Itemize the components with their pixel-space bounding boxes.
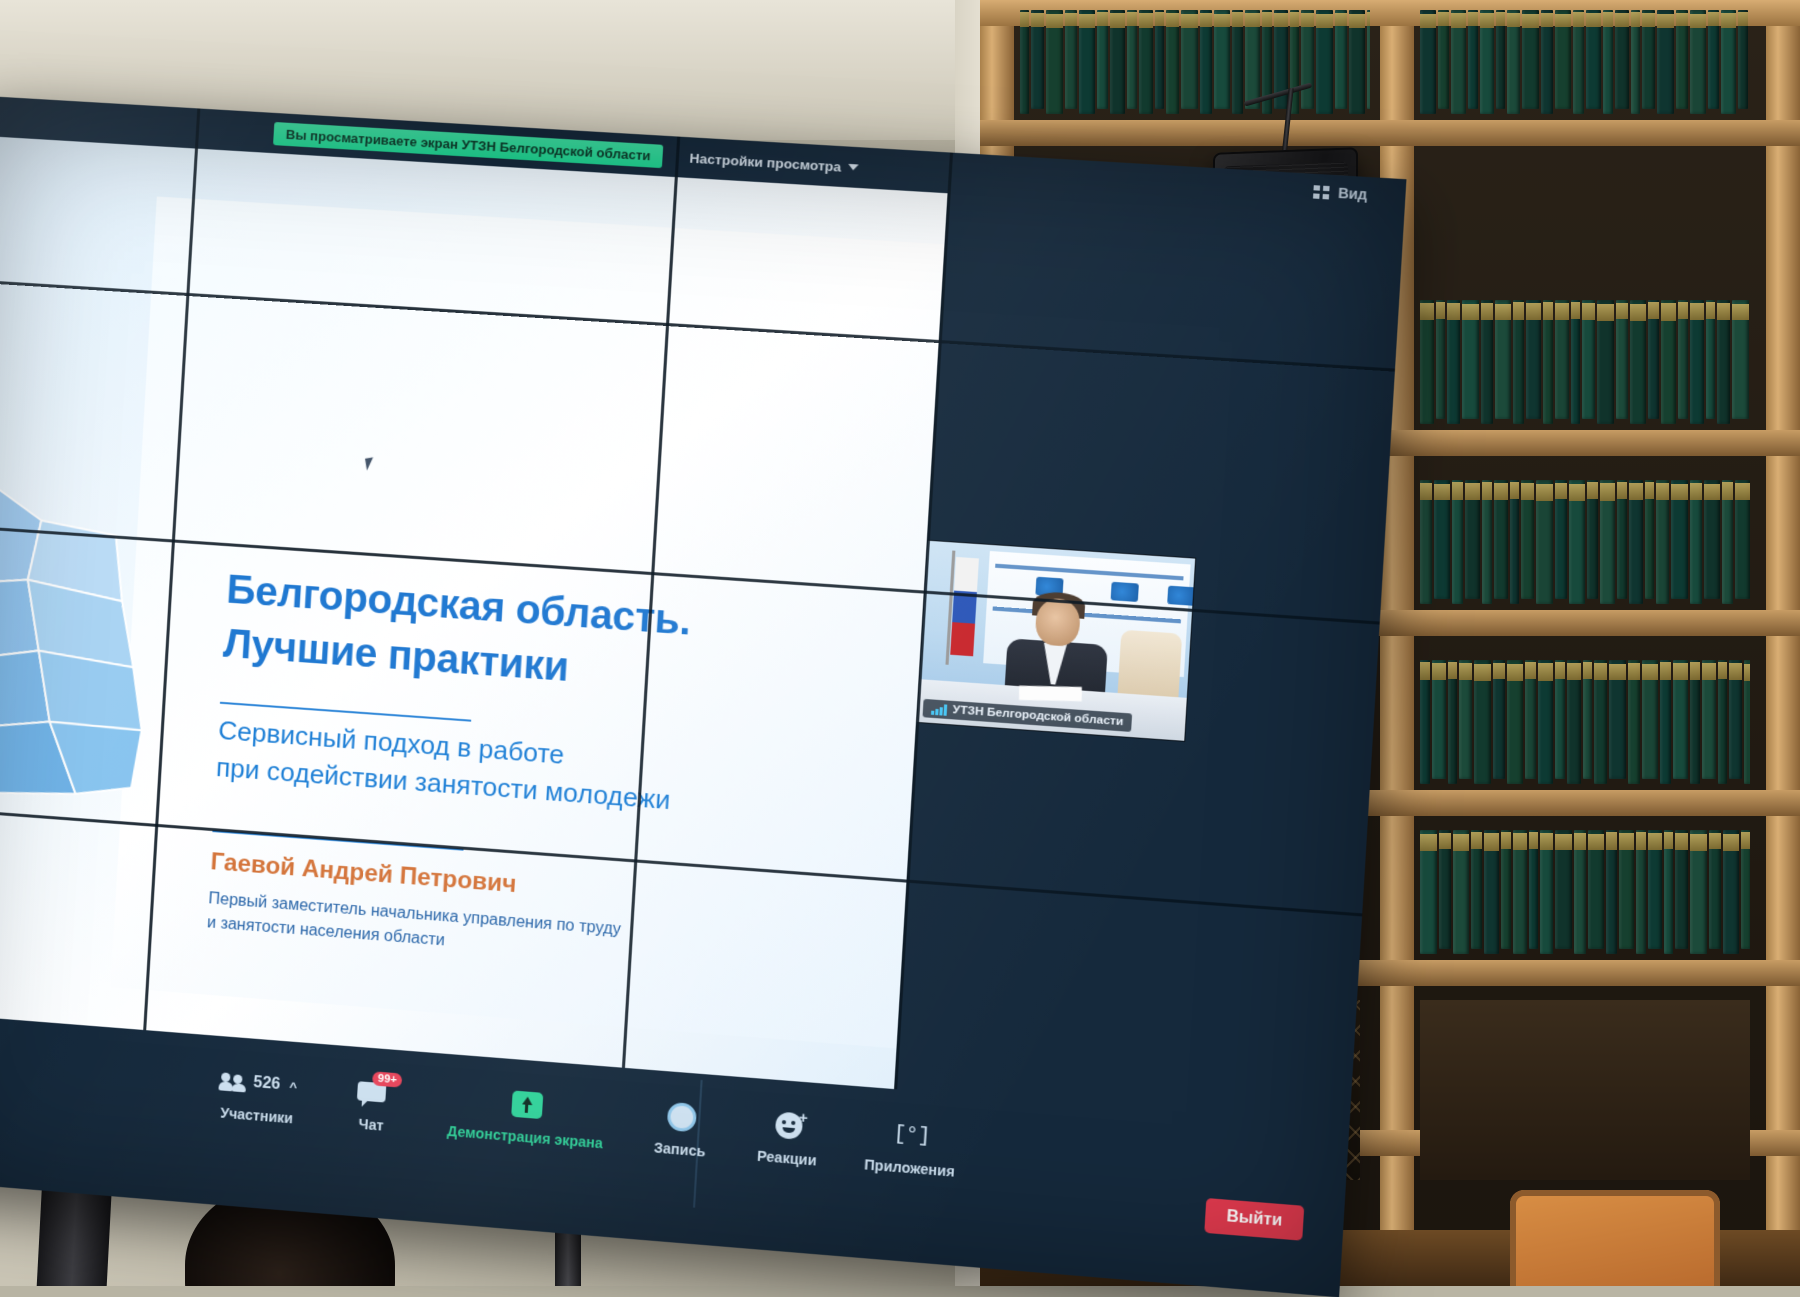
view-settings-dropdown[interactable]: Настройки просмотра <box>689 150 859 175</box>
book <box>1642 10 1655 109</box>
screen-share-label: Демонстрация экрана <box>447 1123 604 1152</box>
book <box>1510 480 1519 604</box>
book <box>1582 300 1595 419</box>
book <box>1704 480 1720 599</box>
book <box>1020 10 1029 114</box>
book <box>1507 660 1523 784</box>
book <box>1619 830 1634 949</box>
book <box>1316 10 1333 114</box>
book <box>1543 300 1553 424</box>
book <box>1420 480 1432 604</box>
book <box>1439 830 1451 949</box>
book <box>1301 10 1314 109</box>
book <box>1046 10 1063 114</box>
book <box>1671 480 1688 599</box>
book <box>1529 830 1538 949</box>
participants-label: Участники <box>220 1105 294 1127</box>
book <box>1065 10 1077 109</box>
chevron-down-icon <box>848 164 859 171</box>
apps-label: Приложения <box>864 1156 955 1180</box>
book <box>1465 480 1480 599</box>
meeting-screen: Вы просматриваете экран УТЗН Белгородско… <box>0 96 1406 1297</box>
book <box>1656 480 1669 604</box>
book <box>1628 660 1640 784</box>
book-row <box>1420 830 1750 960</box>
book <box>1181 10 1198 109</box>
book <box>1448 660 1457 784</box>
book <box>1155 10 1164 109</box>
book <box>1493 660 1505 779</box>
book <box>1723 830 1739 954</box>
book <box>1434 480 1450 599</box>
book <box>1729 660 1742 779</box>
book <box>1615 10 1629 109</box>
screen-share-icon <box>511 1090 543 1119</box>
book <box>1706 300 1715 419</box>
video-wall-display: Вы просматриваете экран УТЗН Белгородско… <box>0 96 1406 1297</box>
book <box>1657 10 1674 114</box>
book <box>1645 480 1654 599</box>
book <box>1420 830 1437 954</box>
chat-label: Чат <box>358 1116 384 1134</box>
book <box>1468 10 1478 109</box>
book <box>1567 660 1581 784</box>
book <box>1642 660 1658 779</box>
book <box>1349 10 1365 114</box>
book <box>1525 660 1536 779</box>
book <box>1522 10 1539 109</box>
record-icon <box>666 1102 696 1133</box>
book <box>1630 300 1646 424</box>
book <box>1481 300 1493 424</box>
book <box>1521 480 1534 599</box>
book <box>1555 830 1572 949</box>
book <box>1555 10 1571 109</box>
book <box>1513 300 1524 424</box>
book <box>1573 10 1584 114</box>
book <box>1738 10 1748 109</box>
book <box>1484 830 1499 954</box>
book <box>1438 10 1449 109</box>
grid-icon <box>1313 185 1330 199</box>
book <box>1678 300 1688 419</box>
book <box>1648 830 1662 949</box>
book <box>1609 660 1626 779</box>
book <box>1583 660 1592 779</box>
apps-icon: [°] <box>893 1122 931 1148</box>
reactions-label: Реакции <box>757 1148 817 1169</box>
shared-slide: ел. Белгородская область. Лучшие практик… <box>0 136 948 1089</box>
book <box>1722 480 1733 604</box>
book <box>1480 10 1494 114</box>
chevron-up-icon[interactable]: ^ <box>289 1078 298 1094</box>
mouse-cursor <box>365 457 375 470</box>
book <box>1690 300 1704 424</box>
book <box>1597 300 1614 424</box>
book <box>1735 480 1750 599</box>
book <box>1586 10 1601 109</box>
book <box>1471 830 1482 949</box>
book <box>1459 660 1472 779</box>
reactions-icon: + <box>775 1111 803 1140</box>
book <box>1496 10 1505 109</box>
book <box>1507 10 1520 114</box>
book <box>1452 480 1463 604</box>
book <box>1513 830 1527 954</box>
book <box>1447 300 1460 424</box>
book <box>1335 10 1347 109</box>
book <box>1166 10 1179 114</box>
book <box>1453 830 1469 954</box>
book <box>1536 480 1553 604</box>
book <box>1420 660 1430 784</box>
book <box>1541 10 1553 114</box>
chat-icon: 99+ <box>357 1079 389 1106</box>
toolbar-item-reactions[interactable]: + Реакции <box>756 1107 819 1169</box>
leave-meeting-button[interactable]: Выйти <box>1205 1198 1305 1241</box>
book <box>1569 480 1585 604</box>
book <box>1462 300 1479 419</box>
view-button-label: Вид <box>1338 185 1368 203</box>
book <box>1031 10 1044 109</box>
book <box>1690 10 1706 114</box>
book <box>1741 830 1750 949</box>
book <box>1673 660 1688 779</box>
book <box>1420 300 1434 424</box>
toolbar-item-apps[interactable]: [°] Приложения <box>864 1116 958 1180</box>
toolbar-item-participants[interactable]: 526 ^ Участники <box>218 1064 298 1126</box>
book <box>1110 10 1125 114</box>
book <box>1555 300 1569 419</box>
book <box>1631 10 1640 114</box>
book <box>1636 830 1646 954</box>
book <box>1721 10 1736 114</box>
view-layout-button[interactable]: Вид <box>1313 183 1367 203</box>
book-row <box>1420 480 1750 610</box>
book <box>1501 830 1511 949</box>
signal-bars-icon <box>931 703 947 715</box>
book <box>1540 830 1553 954</box>
book <box>1690 830 1707 954</box>
book <box>1232 10 1243 114</box>
book <box>1200 10 1212 114</box>
book <box>1214 10 1230 109</box>
book <box>1676 10 1688 109</box>
toolbar-item-screen-share[interactable]: Демонстрация экрана <box>447 1082 606 1151</box>
book <box>1690 480 1702 604</box>
book <box>1495 300 1511 419</box>
book <box>1451 10 1466 114</box>
book <box>1588 830 1604 949</box>
chat-unread-badge: 99+ <box>372 1071 402 1087</box>
book <box>1718 660 1727 784</box>
book <box>1097 10 1108 109</box>
book <box>1617 480 1627 599</box>
presenter-video-tile[interactable]: УТЗН Белгородской области <box>916 540 1196 742</box>
book-row <box>1020 10 1370 120</box>
book <box>1474 660 1491 784</box>
book <box>1574 830 1586 954</box>
chair <box>1510 1190 1720 1286</box>
participants-count: 526 <box>253 1074 281 1094</box>
book <box>1127 10 1137 109</box>
toolbar-item-chat[interactable]: 99+ Чат <box>341 1074 403 1135</box>
book <box>1690 660 1700 784</box>
view-settings-label: Настройки просмотра <box>689 150 842 174</box>
book <box>1675 830 1688 949</box>
book <box>1432 660 1446 779</box>
toolbar-item-record[interactable]: Запись <box>649 1099 712 1160</box>
book <box>1629 480 1643 604</box>
book <box>1702 660 1716 779</box>
book <box>1709 830 1721 949</box>
book-row <box>1420 660 1750 790</box>
book <box>1494 480 1508 599</box>
book <box>1436 300 1445 419</box>
book <box>1648 300 1659 419</box>
book <box>1717 300 1730 424</box>
record-label: Запись <box>654 1139 706 1159</box>
book <box>1708 10 1719 109</box>
participants-icon <box>220 1072 247 1091</box>
book <box>1600 480 1615 604</box>
book <box>1245 10 1260 109</box>
book <box>1594 660 1607 784</box>
book <box>1139 10 1153 114</box>
book <box>1587 480 1598 599</box>
book <box>1555 660 1565 779</box>
book <box>1660 660 1671 784</box>
region-map-graphic <box>0 451 225 834</box>
book <box>1661 300 1676 424</box>
book <box>1616 300 1628 419</box>
book <box>1367 10 1370 109</box>
book-row <box>1420 300 1750 430</box>
book <box>1664 830 1673 954</box>
book <box>1538 660 1553 784</box>
book <box>1420 10 1436 114</box>
book <box>1606 830 1617 954</box>
book <box>1555 480 1567 599</box>
book-row <box>1420 10 1750 120</box>
book <box>1079 10 1095 114</box>
book <box>1571 300 1580 424</box>
book <box>1482 480 1492 604</box>
book <box>1603 10 1613 114</box>
book <box>1526 300 1541 419</box>
book <box>1732 300 1749 419</box>
book <box>1744 660 1750 784</box>
